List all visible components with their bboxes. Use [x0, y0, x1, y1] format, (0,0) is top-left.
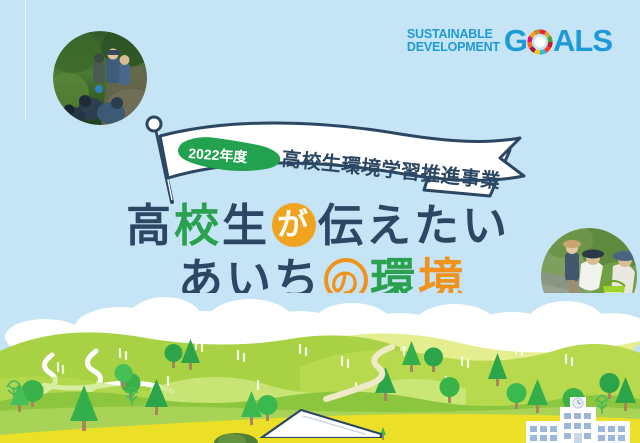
- sdg-wheel-icon: [527, 29, 553, 55]
- sdg-goals-g: G: [504, 25, 527, 56]
- title-char-5: え: [366, 203, 414, 248]
- sky-streak-decoration: [25, 0, 26, 120]
- poster-root: SUSTAINABLE DEVELOPMENT G: [0, 0, 640, 443]
- sdg-line-sustainable: SUSTAINABLE: [407, 28, 500, 41]
- sdg-goals-als: ALS: [553, 25, 612, 56]
- title-char-3: が: [272, 203, 316, 247]
- sdg-line-development: DEVELOPMENT: [407, 41, 500, 54]
- title-char-7: い: [462, 203, 510, 248]
- title-char-0: 高: [126, 203, 174, 248]
- sdg-goals-word: G: [504, 25, 612, 56]
- title-line-1: 高校生が伝えたい: [0, 199, 640, 248]
- sdg-logo-wordmark: SUSTAINABLE DEVELOPMENT: [407, 28, 500, 54]
- title-char-1: 校: [174, 203, 222, 248]
- title-char-6: た: [414, 203, 462, 248]
- photo-students-forest: [53, 31, 147, 125]
- sdg-logo: SUSTAINABLE DEVELOPMENT G: [407, 25, 612, 56]
- paper-card-decoration: [255, 408, 385, 443]
- ribbon-banner: 2022年度 高校生環境学習推進事業: [138, 110, 538, 205]
- main-title: 高校生が伝えたい あいちの環境: [0, 199, 640, 302]
- title-char-4: 伝: [318, 203, 366, 248]
- title-char-2: 生: [222, 203, 270, 248]
